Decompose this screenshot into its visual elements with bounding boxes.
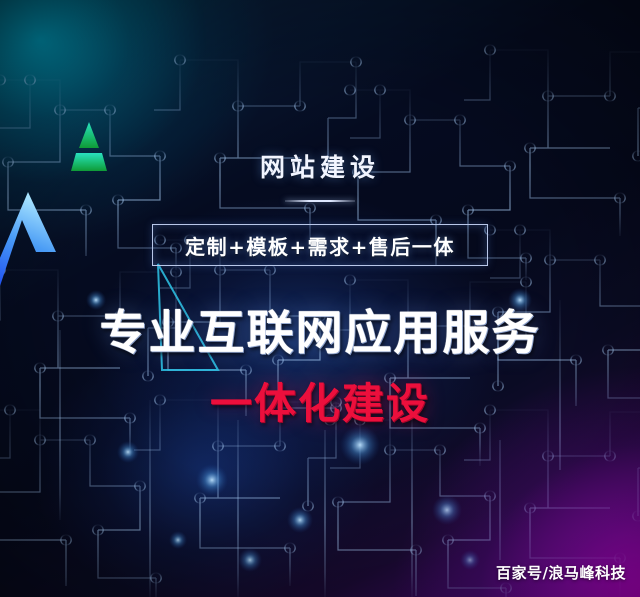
watermark-credit: 百家号/浪马峰科技 [496, 562, 626, 583]
eyebrow-divider [285, 200, 355, 202]
feature-list-text: 定制+模板+需求+售后一体 [185, 231, 455, 260]
eyebrow-title: 网站建设 [0, 148, 640, 184]
feature-list-box: 定制+模板+需求+售后一体 [152, 224, 488, 266]
banner-content: 网站建设 定制+模板+需求+售后一体 专业互联网应用服务 一体化建设 百家号/浪… [0, 0, 640, 597]
subheadline: 一体化建设 [0, 370, 640, 431]
promo-banner: 网站建设 定制+模板+需求+售后一体 专业互联网应用服务 一体化建设 百家号/浪… [0, 0, 640, 597]
headline: 专业互联网应用服务 [0, 294, 640, 363]
